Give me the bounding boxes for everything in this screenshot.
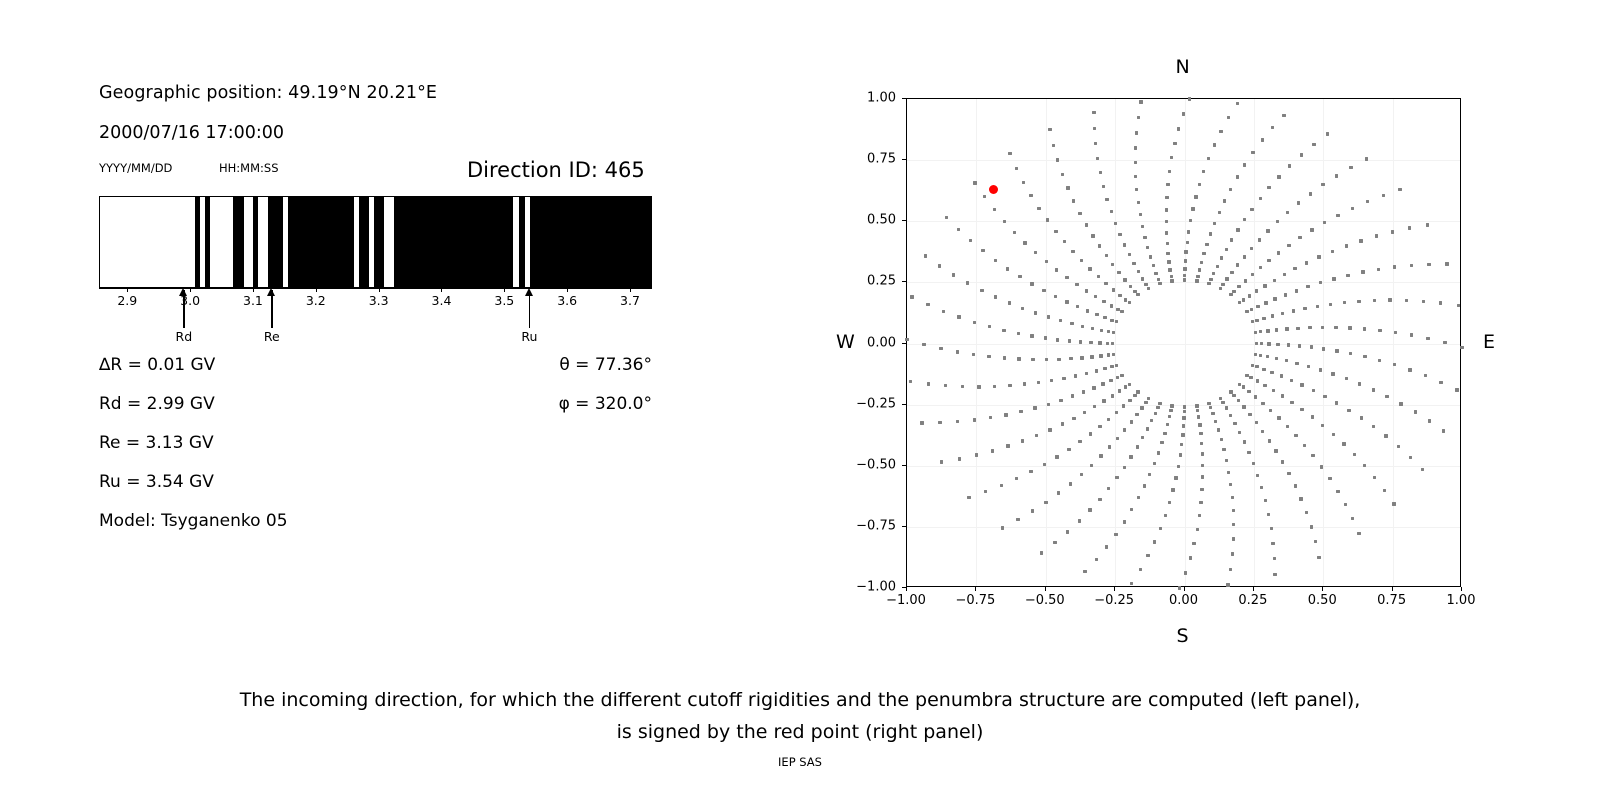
direction-point [969, 239, 972, 242]
direction-point [1361, 270, 1364, 273]
penumbra-tick [441, 288, 442, 292]
direction-point [1184, 250, 1187, 253]
direction-point [1146, 427, 1149, 430]
direction-point [1128, 253, 1131, 256]
caption-line-2: is signed by the red point (right panel) [0, 716, 1600, 748]
direction-point [1123, 243, 1126, 246]
direction-point [1154, 272, 1157, 275]
direction-point [1022, 181, 1025, 184]
direction-point [1382, 194, 1385, 197]
y-tick-label: 0.00 [844, 335, 896, 350]
direction-point [1292, 309, 1295, 312]
x-tick [1322, 587, 1323, 591]
direction-point [1236, 228, 1239, 231]
direction-point [1285, 327, 1288, 330]
direction-point [1273, 573, 1276, 576]
direction-point [1322, 347, 1325, 350]
direction-point [1242, 385, 1245, 388]
direction-point [1219, 130, 1222, 133]
direction-point [1256, 474, 1259, 477]
direction-point [1099, 454, 1102, 457]
direction-point [1194, 195, 1197, 198]
direction-point [926, 303, 929, 306]
penumbra-forbidden-band [233, 197, 244, 287]
direction-point [1094, 142, 1097, 145]
direction-point [1116, 308, 1119, 311]
direction-point [1129, 285, 1132, 288]
direction-point [1147, 397, 1150, 400]
direction-point [1123, 278, 1126, 281]
direction-point [1122, 404, 1125, 407]
direction-point [1271, 314, 1274, 317]
direction-point [1107, 487, 1110, 490]
direction-point [1250, 208, 1253, 211]
direction-point [1163, 432, 1166, 435]
direction-point [1123, 428, 1126, 431]
direction-point [1283, 273, 1286, 276]
direction-point [1312, 143, 1315, 146]
value-model: Model: Tsyganenko 05 [99, 511, 288, 531]
direction-point [1199, 501, 1202, 504]
direction-point [1082, 390, 1085, 393]
penumbra-forbidden-band [530, 197, 652, 287]
penumbra-forbidden-band [394, 197, 512, 287]
direction-point [1264, 499, 1267, 502]
direction-point [1243, 255, 1246, 258]
direction-point [1248, 413, 1251, 416]
direction-point [1158, 282, 1161, 285]
direction-point [1285, 359, 1288, 362]
direction-point [1047, 315, 1050, 318]
direction-point [1363, 327, 1366, 330]
direction-point [1112, 331, 1115, 334]
direction-point [1349, 352, 1352, 355]
direction-point [1034, 311, 1037, 314]
direction-point [1231, 552, 1234, 555]
direction-point [1269, 409, 1272, 412]
date-format-hint: YYYY/MM/DD [99, 161, 172, 175]
direction-point [1346, 274, 1349, 277]
direction-point [1174, 476, 1177, 479]
direction-point [1170, 404, 1173, 407]
direction-point [957, 315, 960, 318]
direction-point [1300, 383, 1303, 386]
direction-point [938, 264, 941, 267]
direction-point [1207, 282, 1210, 285]
direction-point [1255, 342, 1258, 345]
direction-point [1229, 414, 1232, 417]
compass-label-south: S [1177, 625, 1189, 647]
direction-point [1146, 246, 1149, 249]
direction-point [1311, 454, 1314, 457]
direction-point [1182, 424, 1185, 427]
direction-point [1182, 416, 1185, 419]
direction-point [1066, 186, 1069, 189]
direction-point [1282, 114, 1285, 117]
direction-point [1397, 445, 1400, 448]
direction-point [1321, 326, 1324, 329]
direction-point [1281, 460, 1284, 463]
direction-point [1055, 455, 1058, 458]
direction-point [1306, 285, 1309, 288]
penumbra-tick [379, 288, 380, 292]
penumbra-tick-label: 2.9 [117, 293, 137, 308]
gridline-vertical [1393, 99, 1394, 586]
direction-point [1216, 265, 1219, 268]
direction-point [1019, 410, 1022, 413]
direction-point [973, 321, 976, 324]
value-ru: Ru = 3.54 GV [99, 472, 214, 492]
direction-point [1062, 377, 1065, 380]
direction-point [1092, 386, 1095, 389]
direction-point [1383, 489, 1386, 492]
direction-point [1225, 459, 1228, 462]
x-tick-label: 0.00 [1169, 593, 1198, 608]
direction-point [1080, 356, 1083, 359]
direction-point [1098, 244, 1101, 247]
direction-point [1177, 465, 1180, 468]
direction-point [1410, 264, 1413, 267]
direction-point [1102, 300, 1105, 303]
direction-point [1377, 268, 1380, 271]
direction-point [1271, 542, 1274, 545]
penumbra-tick [630, 288, 631, 292]
direction-point [909, 380, 912, 383]
direction-point [1080, 473, 1083, 476]
direction-point [1363, 464, 1366, 467]
direction-point [1057, 491, 1060, 494]
x-tick [1114, 587, 1115, 591]
direction-point [1116, 437, 1119, 440]
direction-point [994, 259, 997, 262]
direction-point [1277, 175, 1280, 178]
direction-point [1002, 329, 1005, 332]
direction-point [1284, 293, 1287, 296]
direction-point [993, 208, 996, 211]
direction-point [1198, 183, 1201, 186]
direction-point [1099, 171, 1102, 174]
direction-point [1100, 329, 1103, 332]
direction-point [988, 325, 991, 328]
direction-point [1157, 451, 1160, 454]
direction-point [1006, 267, 1009, 270]
direction-point [1256, 379, 1259, 382]
direction-point [1152, 264, 1155, 267]
direction-point [1120, 310, 1123, 313]
direction-point [1115, 476, 1118, 479]
direction-point [1197, 415, 1200, 418]
direction-point [1195, 279, 1198, 282]
direction-point [994, 295, 997, 298]
gridline-horizontal [907, 344, 1460, 345]
direction-point [1003, 356, 1006, 359]
direction-point [1181, 433, 1184, 436]
direction-point [1198, 268, 1201, 271]
y-tick [902, 343, 906, 344]
direction-point [1078, 440, 1081, 443]
direction-point [1372, 425, 1375, 428]
direction-point [1296, 327, 1299, 330]
direction-point [1221, 401, 1224, 404]
direction-point [1319, 368, 1322, 371]
direction-point [1083, 411, 1086, 414]
direction-point [1140, 406, 1143, 409]
direction-point [940, 460, 943, 463]
direction-point [1196, 528, 1199, 531]
selected-direction-marker[interactable] [989, 185, 998, 194]
direction-point [1243, 163, 1246, 166]
direction-point [1017, 357, 1020, 360]
direction-point [1281, 394, 1284, 397]
direction-point [1365, 157, 1368, 160]
direction-point [1137, 201, 1140, 204]
direction-point [1055, 268, 1058, 271]
penumbra-forbidden-band [359, 197, 369, 287]
direction-point [1267, 513, 1270, 516]
direction-point [1263, 284, 1266, 287]
direction-point [1033, 406, 1036, 409]
direction-point [1006, 444, 1009, 447]
direction-point [1244, 279, 1247, 282]
direction-point [1321, 183, 1324, 186]
direction-point [1229, 483, 1232, 486]
direction-point [1156, 406, 1159, 409]
direction-point [1226, 583, 1229, 586]
direction-point [1037, 207, 1040, 210]
direction-point [1008, 384, 1011, 387]
direction-point [1236, 175, 1239, 178]
direction-point [1054, 295, 1057, 298]
direction-point [1268, 439, 1271, 442]
direction-point [1243, 440, 1246, 443]
direction-point [1079, 340, 1082, 343]
direction-point [1065, 276, 1068, 279]
direction-point [983, 195, 986, 198]
direction-point [1237, 399, 1240, 402]
direction-point [1102, 185, 1105, 188]
direction-point [1107, 353, 1110, 356]
caption-line-1: The incoming direction, for which the di… [0, 684, 1600, 716]
direction-point [1259, 354, 1262, 357]
direction-point [1357, 532, 1360, 535]
y-tick-label: 0.75 [844, 152, 896, 167]
direction-point [1093, 127, 1096, 130]
y-tick-label: 0.25 [844, 274, 896, 289]
gridline-vertical [1185, 99, 1186, 586]
direction-point [1242, 298, 1245, 301]
direction-point [938, 421, 941, 424]
direction-point [1105, 254, 1108, 257]
direction-point [1332, 433, 1335, 436]
direction-point [1098, 425, 1101, 428]
direction-point [1118, 389, 1121, 392]
direction-point [1160, 441, 1163, 444]
direction-point [1310, 228, 1313, 231]
gridline-vertical [1323, 99, 1324, 586]
direction-point [1093, 405, 1096, 408]
penumbra-tick-label: 3.4 [432, 293, 452, 308]
direction-point [1196, 409, 1199, 412]
direction-point [1037, 381, 1040, 384]
direction-point [1099, 354, 1102, 357]
direction-point [1260, 342, 1263, 345]
direction-point [1021, 307, 1024, 310]
direction-point [1128, 399, 1131, 402]
penumbra-forbidden-band [195, 197, 200, 287]
direction-point [967, 496, 970, 499]
direction-point [1300, 153, 1303, 156]
direction-point [1249, 376, 1252, 379]
direction-point [1187, 230, 1190, 233]
direction-point [1281, 312, 1284, 315]
direction-point [1177, 127, 1180, 130]
direction-point [1153, 462, 1156, 465]
direction-point [1165, 231, 1168, 234]
direction-point [1144, 401, 1147, 404]
direction-point [1192, 542, 1195, 545]
direction-point [1259, 197, 1262, 200]
direction-point [1345, 244, 1348, 247]
direction-point [1070, 322, 1073, 325]
direction-point [1347, 409, 1350, 412]
direction-point [1445, 262, 1448, 265]
direction-point [1063, 240, 1066, 243]
direction-point [1259, 266, 1262, 269]
direction-point [975, 453, 978, 456]
direction-point [1213, 143, 1216, 146]
direction-point [1251, 273, 1254, 276]
y-tick-label: 0.50 [844, 213, 896, 228]
direction-point [920, 421, 923, 424]
direction-point [1238, 431, 1241, 434]
direction-point [1345, 377, 1348, 380]
direction-point [1255, 289, 1258, 292]
direction-point [1232, 290, 1235, 293]
direction-point [1196, 275, 1199, 278]
direction-point [1040, 551, 1043, 554]
scatter-plot-area [906, 98, 1461, 587]
value-delta-r: ∆R = 0.01 GV [99, 355, 215, 375]
direction-point [1212, 272, 1215, 275]
direction-point [1398, 188, 1401, 191]
direction-point [1015, 167, 1018, 170]
direction-point [1092, 111, 1095, 114]
direction-point [1129, 455, 1132, 458]
penumbra-forbidden-band [374, 197, 384, 287]
direction-point [1229, 293, 1232, 296]
direction-point [1200, 488, 1203, 491]
direction-point [1250, 247, 1253, 250]
direction-point [1184, 259, 1187, 262]
direction-point [1035, 434, 1038, 437]
arrow-label: Rd [176, 329, 193, 344]
direction-point [1409, 456, 1412, 459]
direction-point [1090, 464, 1093, 467]
direction-point [1299, 497, 1302, 500]
direction-point [1267, 342, 1270, 345]
direction-point [1141, 225, 1144, 228]
direction-point [1003, 220, 1006, 223]
direction-point [1392, 502, 1395, 505]
direction-point [1225, 406, 1228, 409]
direction-point [1164, 514, 1167, 517]
arrow-head [525, 288, 533, 296]
direction-point [1136, 445, 1139, 448]
direction-point [1183, 410, 1186, 413]
direction-point [1057, 358, 1060, 361]
direction-point [1137, 270, 1140, 273]
direction-point [1030, 282, 1033, 285]
direction-point [1098, 341, 1101, 344]
direction-point [1213, 222, 1216, 225]
direction-point [1001, 526, 1004, 529]
direction-point [1331, 250, 1334, 253]
direction-point [1120, 374, 1123, 377]
direction-point [1013, 231, 1016, 234]
direction-point [1191, 207, 1194, 210]
gridline-horizontal [907, 527, 1460, 528]
direction-point [956, 350, 959, 353]
direction-point [1233, 422, 1236, 425]
direction-point [1000, 484, 1003, 487]
direction-point [1373, 299, 1376, 302]
direction-point [1050, 379, 1053, 382]
direction-point [1090, 355, 1093, 358]
direction-point [1054, 230, 1057, 233]
direction-point [1044, 336, 1047, 339]
direction-point [1056, 158, 1059, 161]
direction-point [1018, 275, 1021, 278]
direction-point [1086, 309, 1089, 312]
direction-point [1274, 449, 1277, 452]
direction-point [1275, 328, 1278, 331]
direction-point [1135, 188, 1138, 191]
direction-point [1023, 241, 1026, 244]
direction-point [1245, 374, 1248, 377]
gridline-vertical [1115, 99, 1116, 586]
direction-point [958, 457, 961, 460]
direction-point [1399, 402, 1402, 405]
direction-point [1128, 301, 1131, 304]
direction-point [1308, 326, 1311, 329]
direction-point [1108, 445, 1111, 448]
direction-point [1123, 520, 1126, 523]
penumbra-bar [99, 196, 652, 288]
direction-point [1229, 188, 1232, 191]
x-tick-label: 0.50 [1308, 593, 1337, 608]
direction-point [1114, 222, 1117, 225]
direction-point [1230, 238, 1233, 241]
direction-point [1220, 256, 1223, 259]
penumbra-tick [567, 288, 568, 292]
direction-point [1042, 289, 1045, 292]
direction-point [1375, 234, 1378, 237]
direction-point [1426, 337, 1429, 340]
direction-point [1130, 420, 1133, 423]
value-re: Re = 3.13 GV [99, 433, 214, 453]
direction-point [1421, 468, 1424, 471]
direction-point [1227, 471, 1230, 474]
direction-point [1336, 490, 1339, 493]
direction-point [1221, 283, 1224, 286]
direction-point [1384, 434, 1387, 437]
direction-point [1238, 383, 1241, 386]
direction-point [1276, 220, 1279, 223]
direction-point [1457, 304, 1460, 307]
direction-point [1165, 220, 1168, 223]
direction-point [1305, 511, 1308, 514]
direction-point [1309, 192, 1312, 195]
